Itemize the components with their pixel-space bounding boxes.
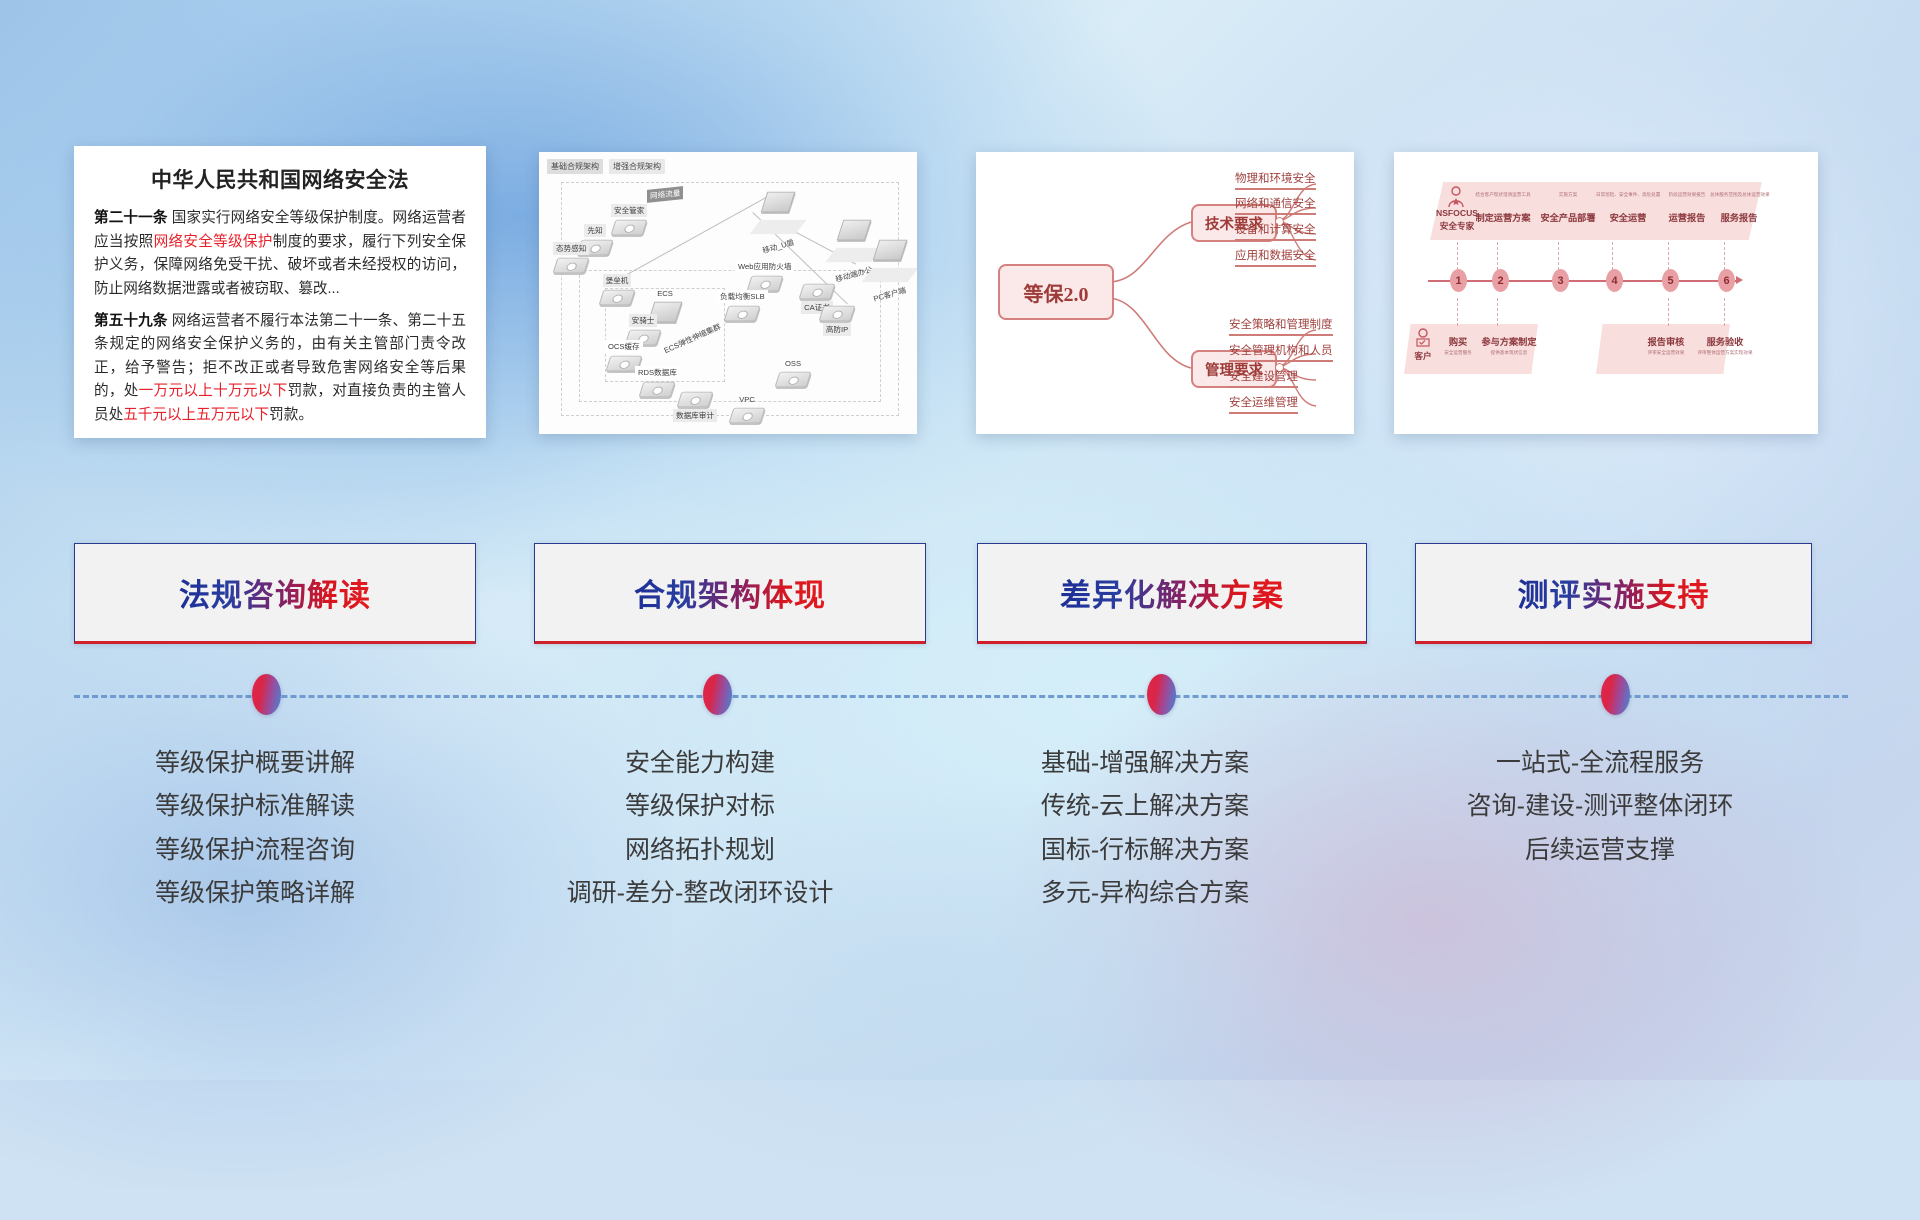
list-item: 基础-增强解决方案 [950,742,1340,785]
nsfocus-client-band-right [1596,324,1730,374]
card-mindmap-dengbao[interactable]: 等保2.0 技术要求 管理要求 物理和环境安全 网络和通信安全 设备和计算安全 … [976,152,1354,434]
list-item: 等级保护策略详解 [60,872,450,915]
headline-row: 法规咨询解读 合规架构体现 差异化解决方案 测评实施支持 [0,543,1920,643]
timeline-axis-line [1428,280,1738,282]
list-item: 国标-行标解决方案 [950,829,1340,872]
step-3-title: 安全产品部署 [1540,210,1596,224]
law-article-21: 第二十一条 国家实行网络安全等级保护制度。网络运营者应当按照网络安全等级保护制度… [94,207,466,302]
list-item: 调研-差分-整改闭环设计 [505,872,895,915]
architecture-node-anti-ddos-ip: 高防IP [821,304,853,337]
timeline-marker-4[interactable] [1601,674,1630,715]
step-3-connector [1558,242,1560,270]
headline-box-regulation-consulting[interactable]: 法规咨询解读 [74,543,476,644]
nsfocus-timeline-diagram: NSFOCUS 安全专家 结合客户现状澄清运营工具 制定运营方案 实施方案 安全… [1394,152,1818,434]
timeline-axis-arrow-icon [1736,276,1743,284]
list-item: 传统-云上解决方案 [950,785,1340,828]
list-item: 等级保护对标 [505,785,895,828]
architecture-tab-group[interactable]: 基础合规架构 增强合规架构 [547,159,665,174]
law-article-59-highlight-2: 五千元以上五万元以下 [123,407,269,423]
detail-column-row: 等级保护概要讲解 等级保护标准解读 等级保护流程咨询 等级保护策略详解 安全能力… [0,742,1920,982]
step-3-sub: 实施方案 [1540,192,1596,198]
mindmap-leaf-network-comm: 网络和通信安全 [1235,195,1316,215]
architecture-node-db-audit: 数据库审计 [673,390,717,423]
client-step-1-title: 购买 [1438,334,1478,348]
law-title: 中华人民共和国网络安全法 [94,164,466,194]
headline-label-3: 差异化解决方案 [1060,570,1284,615]
mindmap-leaf-org-personnel: 安全管理机构和人员 [1229,342,1333,362]
step-5-connector [1668,242,1670,270]
architecture-node-waf: Web应用防火墙 [735,260,794,293]
detail-column-2: 安全能力构建 等级保护对标 网络拓扑规划 调研-差分-整改闭环设计 [505,742,895,915]
list-item: 等级保护流程咨询 [60,829,450,872]
step-2-title: 制定运营方案 [1472,210,1534,224]
architecture-tab-basic[interactable]: 基础合规架构 [547,159,603,174]
detail-column-4: 一站式-全流程服务 咨询-建设-测评整体闭环 后续运营支撑 [1405,742,1795,872]
client-3-connector [1668,298,1670,326]
card-compliance-architecture[interactable]: 基础合规架构 增强合规架构 网络流量 安全管家 先知 [539,152,917,434]
law-article-59-label: 第五十九条 [94,313,168,329]
mindmap-leaf-ops-mgmt: 安全运维管理 [1229,394,1298,414]
timeline-marker-3[interactable] [1147,674,1176,715]
architecture-diagram: 基础合规架构 增强合规架构 网络流量 安全管家 先知 [539,152,917,434]
client-4-connector [1724,298,1726,326]
law-article-59-text-c: 罚款。 [269,407,313,423]
architecture-node-pc-client: PC客户端 [867,238,913,302]
list-item: 网络拓扑规划 [505,829,895,872]
law-article-21-highlight: 网络安全等级保护 [154,234,273,250]
headline-label-4: 测评实施支持 [1518,570,1710,615]
law-article-59: 第五十九条 网络运营者不履行本法第二十一条、第二十五条规定的网络安全保护义务的，… [94,310,466,428]
architecture-tab-enhanced[interactable]: 增强合规架构 [609,159,665,174]
mindmap-leaf-device-compute: 设备和计算安全 [1235,221,1316,241]
timeline-step-3[interactable]: 3 [1552,269,1569,292]
list-item: 安全能力构建 [505,742,895,785]
timeline-marker-2[interactable] [703,674,732,715]
list-item: 多元-异构综合方案 [950,872,1340,915]
client-step-2-title: 参与方案制定 [1478,334,1540,348]
mindmap-diagram: 等保2.0 技术要求 管理要求 物理和环境安全 网络和通信安全 设备和计算安全 … [976,152,1354,434]
architecture-node-bastion-host: 堡垒机 [601,274,633,307]
list-item: 后续运营支撑 [1405,829,1795,872]
architecture-node-security-steward: 安全管家 [611,204,647,237]
client-step-3-sub: 评审安全运营效果 [1636,350,1696,356]
mindmap-leaf-app-data: 应用和数据安全 [1235,247,1316,267]
architecture-node-oss: OSS [777,358,809,389]
detail-column-3: 基础-增强解决方案 传统-云上解决方案 国标-行标解决方案 多元-异构综合方案 [950,742,1340,915]
timeline-step-1[interactable]: 1 [1450,269,1467,292]
client-step-1-sub: 安全运营服务 [1438,350,1478,356]
illustration-card-row: 中华人民共和国网络安全法 第二十一条 国家实行网络安全等级保护制度。网络运营者应… [0,146,1920,446]
headline-box-assessment-support[interactable]: 测评实施支持 [1415,543,1812,644]
card-nsfocus-service-timeline[interactable]: NSFOCUS 安全专家 结合客户现状澄清运营工具 制定运营方案 实施方案 安全… [1394,152,1818,434]
step-5-title: 运营报告 [1660,210,1714,224]
mindmap-leaf-construction-mgmt: 安全建设管理 [1229,368,1298,388]
step-4-connector [1612,242,1614,270]
client-label: 客户 [1408,350,1438,362]
mindmap-leaf-policy-system: 安全策略和管理制度 [1229,316,1333,336]
timeline-dashed-line [74,695,1848,700]
step-2-connector [1497,242,1499,270]
architecture-node-mobile-ukey: 移动_U盾 [755,190,801,254]
architecture-node-slb: 负载均衡SLB [717,290,768,323]
list-item: 咨询-建设-测评整体闭环 [1405,785,1795,828]
headline-box-differentiated-solution[interactable]: 差异化解决方案 [977,543,1367,644]
client-step-4-title: 服务验收 [1694,334,1756,348]
client-2-connector [1497,298,1499,326]
client-1-connector [1457,298,1459,326]
timeline-step-2[interactable]: 2 [1492,269,1509,292]
step-1-connector [1457,242,1459,270]
law-article-21-label: 第二十一条 [94,210,168,226]
timeline-step-4[interactable]: 4 [1606,269,1623,292]
law-article-59-highlight-1: 一万元以上十万元以下 [139,383,288,399]
architecture-node-vpc: VPC [731,394,763,425]
architecture-node-situational-awareness: 态势感知 [553,242,589,275]
slide-stage: 中华人民共和国网络安全法 第二十一条 国家实行网络安全等级保护制度。网络运营者应… [0,0,1920,1080]
step-4-sub: 日常巡检、安全事件、高危处置 [1596,192,1660,198]
headline-label-1: 法规咨询解读 [179,570,371,615]
client-step-4-sub: 评审整体运营方案实现效果 [1694,350,1756,356]
client-step-2-sub: 提供基本现状信息 [1478,350,1540,356]
step-6-sub: 总体服务范围及总体运营效果 [1710,192,1768,198]
timeline-step-6[interactable]: 6 [1718,269,1735,292]
step-6-connector [1724,242,1726,270]
timeline-marker-1[interactable] [252,674,281,715]
law-card-body: 中华人民共和国网络安全法 第二十一条 国家实行网络安全等级保护制度。网络运营者应… [74,146,486,438]
headline-label-2: 合规架构体现 [634,570,826,615]
mindmap-leaf-physical-env: 物理和环境安全 [1235,170,1316,190]
list-item: 一站式-全流程服务 [1405,742,1795,785]
list-item: 等级保护概要讲解 [60,742,450,785]
step-5-sub: 阶段运营效果报告 [1660,192,1714,198]
timeline-step-5[interactable]: 5 [1662,269,1679,292]
mindmap-root-node: 等保2.0 [998,264,1114,320]
step-2-sub: 结合客户现状澄清运营工具 [1472,192,1534,198]
card-cybersecurity-law[interactable]: 中华人民共和国网络安全法 第二十一条 国家实行网络安全等级保护制度。网络运营者应… [74,146,486,438]
step-4-title: 安全运营 [1596,210,1660,224]
list-item: 等级保护标准解读 [60,785,450,828]
detail-column-1: 等级保护概要讲解 等级保护标准解读 等级保护流程咨询 等级保护策略详解 [60,742,450,915]
step-6-title: 服务报告 [1710,210,1768,224]
client-step-3-title: 报告审核 [1636,334,1696,348]
headline-box-compliance-architecture[interactable]: 合规架构体现 [534,543,926,644]
